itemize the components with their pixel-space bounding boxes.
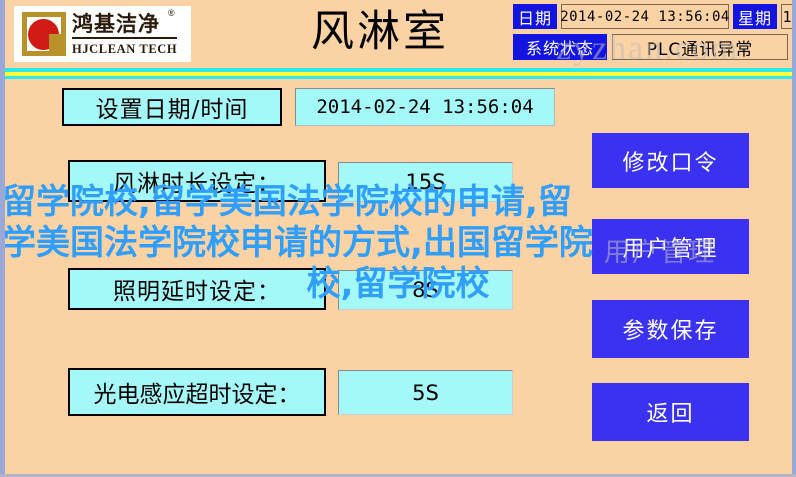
window-left-edge (0, 0, 5, 477)
brand-name-en: HJCLEAN TECH (72, 41, 177, 57)
weekday-label: 星期 (733, 4, 777, 29)
shower-duration-field[interactable]: 15S (338, 162, 513, 202)
page-title: 风淋室 (265, 4, 495, 60)
status-cluster: 日期 2014-02-24 13:56:04 星期 1 系统状态 PLC通讯异常 (513, 4, 793, 60)
light-delay-label: 照明延时设定： (68, 268, 326, 310)
system-status-value: PLC通讯异常 (612, 34, 788, 60)
photo-sensor-timeout-field[interactable]: 5S (338, 370, 513, 415)
system-status-row: 系统状态 PLC通讯异常 (513, 34, 793, 60)
photo-sensor-timeout-label: 光电感应超时设定： (68, 368, 326, 416)
date-row: 日期 2014-02-24 13:56:04 星期 1 (513, 4, 793, 29)
date-label: 日期 (513, 4, 557, 29)
header-bar: ® 鸿基洁净 HJCLEAN TECH 风淋室 日期 2014-02-24 13… (5, 0, 792, 68)
change-password-button[interactable]: 修改口令 (592, 133, 749, 188)
hmi-screen: ® 鸿基洁净 HJCLEAN TECH 风淋室 日期 2014-02-24 13… (0, 0, 796, 477)
window-right-edge (792, 0, 796, 477)
light-delay-field[interactable]: 8S (338, 270, 513, 310)
shower-duration-label: 风淋时长设定： (68, 160, 326, 202)
logo-wordmark: ® 鸿基洁净 HJCLEAN TECH (72, 12, 177, 57)
divider-cyan-bottom (5, 76, 792, 79)
logo-mark-icon (22, 12, 66, 56)
user-management-button[interactable]: 用户管理 (592, 219, 749, 274)
brand-name-cn: 鸿基洁净 (72, 12, 177, 39)
company-logo: ® 鸿基洁净 HJCLEAN TECH (14, 6, 191, 62)
return-button[interactable]: 返回 (592, 383, 749, 441)
set-datetime-field[interactable]: 2014-02-24 13:56:04 (295, 88, 555, 126)
registered-mark-icon: ® (168, 8, 175, 18)
system-status-label: 系统状态 (513, 34, 607, 60)
datetime-readout: 2014-02-24 13:56:04 (561, 4, 729, 29)
set-datetime-label: 设置日期/时间 (62, 88, 282, 126)
save-parameters-button[interactable]: 参数保存 (592, 300, 749, 358)
